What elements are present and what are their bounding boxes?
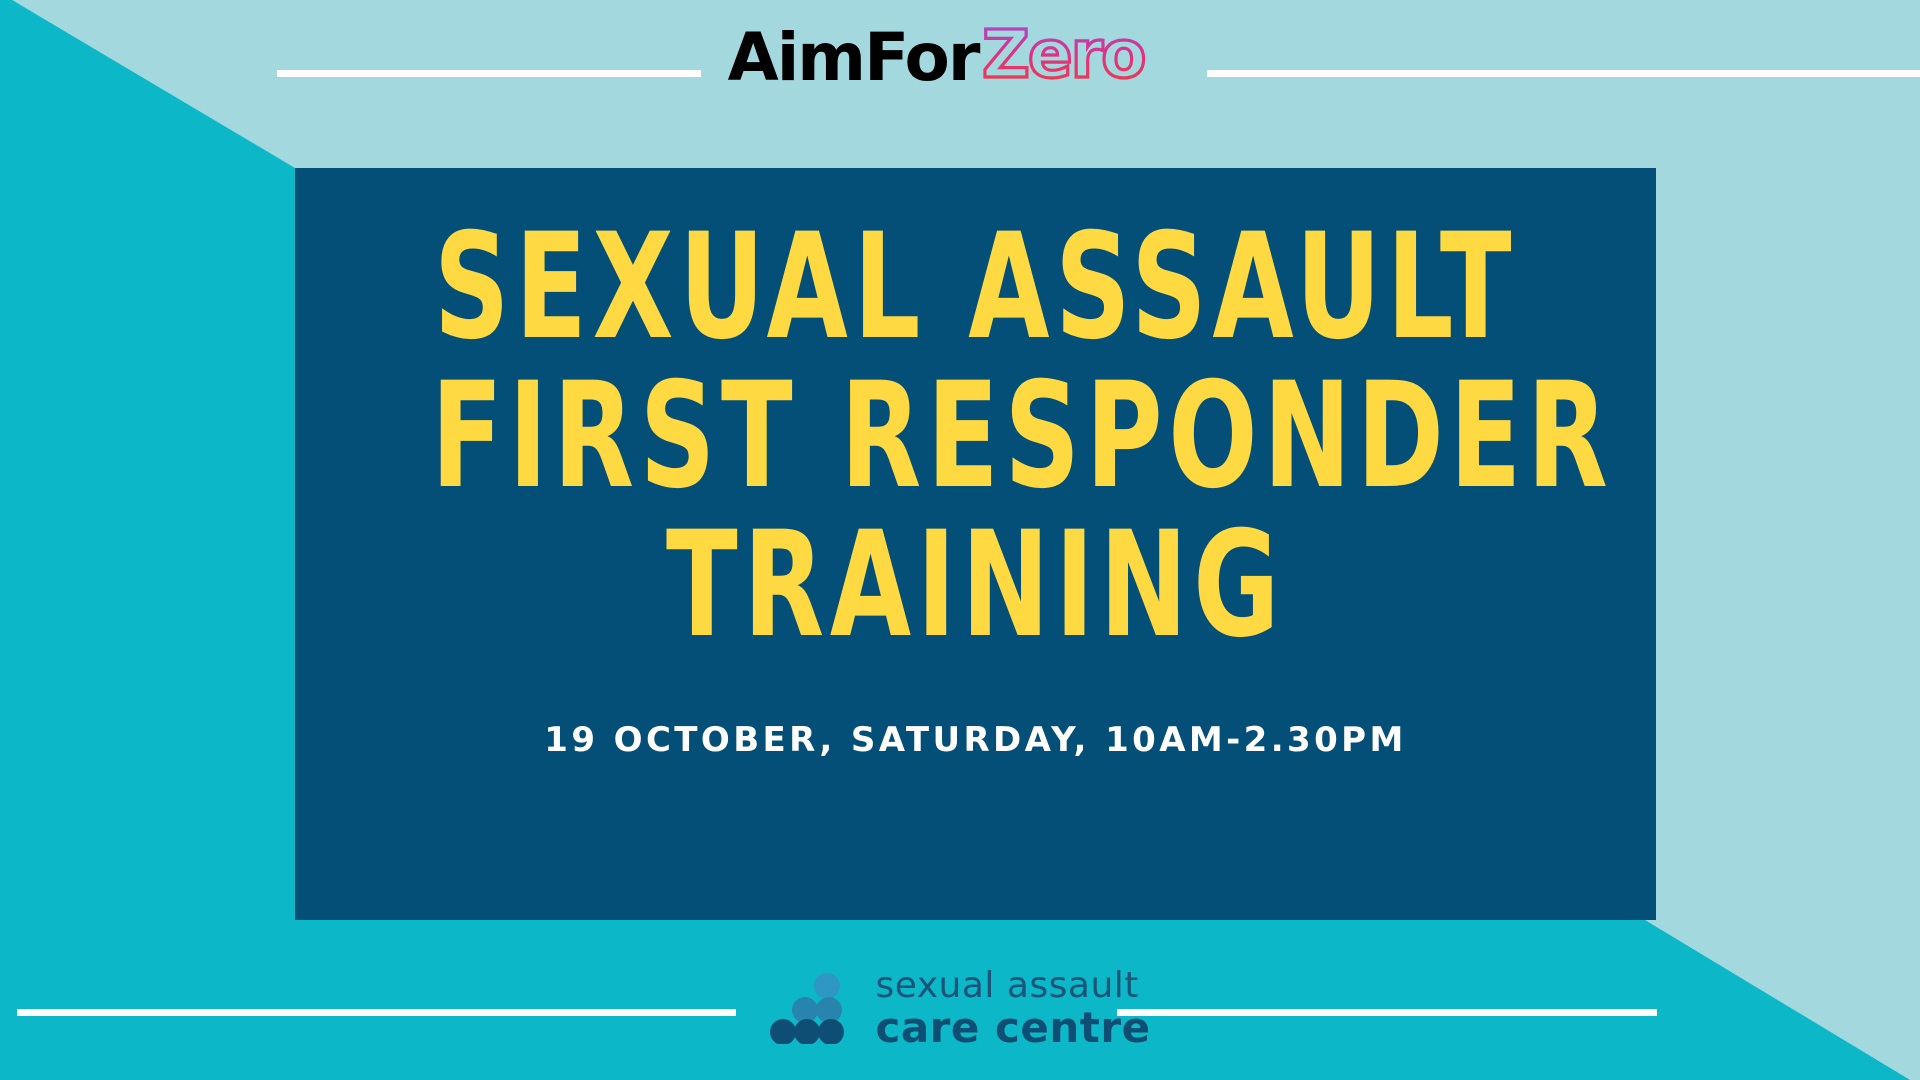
logo-text-zero-outline: Zero <box>978 24 1192 92</box>
headline-line-2: FIRST RESPONDER <box>431 362 1520 511</box>
headline-line-1: SEXUAL ASSAULT <box>431 213 1520 362</box>
org-name-line-2: care centre <box>875 1007 1150 1049</box>
logo-dot-top <box>814 973 840 999</box>
aimforzero-logo: AimFor Zero <box>0 24 1920 92</box>
poster-canvas: AimFor Zero SEXUAL ASSAULT FIRST RESPOND… <box>0 0 1920 1080</box>
org-name-line-1: sexual assault <box>875 968 1150 1004</box>
logo-dots-icon <box>769 972 857 1044</box>
logo-dot-bottom-left <box>770 1019 796 1044</box>
event-date-text: 19 OCTOBER, SATURDAY, 10AM-2.30PM <box>295 720 1656 760</box>
logo-dot-bottom-right <box>818 1019 844 1044</box>
logo-dot-mid-right <box>816 997 842 1023</box>
logo-dot-mid-left <box>792 997 818 1023</box>
logo-text-aimfor: AimFor <box>728 19 979 96</box>
page-title: SEXUAL ASSAULT FIRST RESPONDER TRAINING <box>431 213 1520 660</box>
main-content-panel: SEXUAL ASSAULT FIRST RESPONDER TRAINING … <box>295 168 1656 920</box>
svg-text:Zero: Zero <box>982 24 1145 92</box>
org-wordmark: sexual assault care centre <box>875 968 1150 1049</box>
headline-line-3: TRAINING <box>431 511 1520 660</box>
sexual-assault-care-centre-logo: sexual assault care centre <box>0 960 1920 1056</box>
logo-dot-bottom-mid <box>794 1019 820 1044</box>
